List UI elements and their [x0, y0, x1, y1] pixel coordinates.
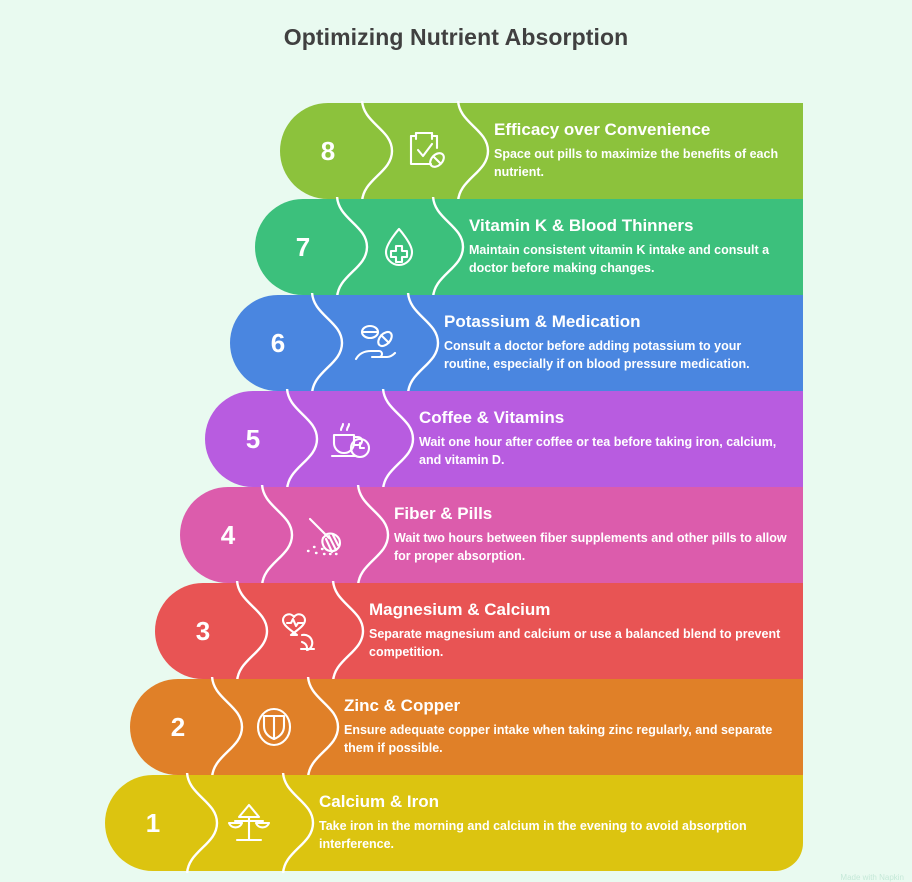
step-number: 2	[130, 679, 226, 775]
step-description: Space out pills to maximize the benefits…	[494, 146, 787, 182]
step-row: 1 Calcium & IronTake iron in the morning…	[105, 775, 803, 871]
step-number: 6	[230, 295, 326, 391]
step-title: Coffee & Vitamins	[419, 408, 787, 428]
step-title: Zinc & Copper	[344, 696, 787, 716]
step-row: 7 Vitamin K & Blood ThinnersMaintain con…	[255, 199, 803, 295]
step-description: Wait two hours between fiber supplements…	[394, 530, 787, 566]
step-title: Potassium & Medication	[444, 312, 787, 332]
step-description: Wait one hour after coffee or tea before…	[419, 434, 787, 470]
clipboard-check-pill-icon	[376, 103, 472, 199]
step-title: Magnesium & Calcium	[369, 600, 787, 620]
staircase-diagram: 8 Efficacy over ConvenienceSpace out pil…	[0, 0, 912, 882]
broom-sweep-icon	[276, 487, 372, 583]
step-number: 8	[280, 103, 376, 199]
step-description: Ensure adequate copper intake when takin…	[344, 722, 787, 758]
step-title: Efficacy over Convenience	[494, 120, 787, 140]
step-text: Calcium & IronTake iron in the morning a…	[297, 775, 803, 871]
step-row: 4 Fiber & PillsWait two hours between fi…	[180, 487, 803, 583]
step-description: Maintain consistent vitamin K intake and…	[469, 242, 787, 278]
hand-holding-pills-icon	[326, 295, 422, 391]
step-number: 5	[205, 391, 301, 487]
step-title: Calcium & Iron	[319, 792, 787, 812]
heart-pulse-muscle-icon	[251, 583, 347, 679]
watermark: Made with Napkin	[840, 873, 904, 882]
step-text: Fiber & PillsWait two hours between fibe…	[372, 487, 803, 583]
shield-badge-icon	[226, 679, 322, 775]
step-number: 4	[180, 487, 276, 583]
step-title: Fiber & Pills	[394, 504, 787, 524]
step-text: Efficacy over ConvenienceSpace out pills…	[472, 103, 803, 199]
step-text: Magnesium & CalciumSeparate magnesium an…	[347, 583, 803, 679]
step-number: 3	[155, 583, 251, 679]
step-title: Vitamin K & Blood Thinners	[469, 216, 787, 236]
step-text: Potassium & MedicationConsult a doctor b…	[422, 295, 803, 391]
step-number: 1	[105, 775, 201, 871]
step-row: 8 Efficacy over ConvenienceSpace out pil…	[280, 103, 803, 199]
step-text: Vitamin K & Blood ThinnersMaintain consi…	[447, 199, 803, 295]
step-row: 5 Coffee & VitaminsWait one hour after c…	[205, 391, 803, 487]
balance-scale-icon	[201, 775, 297, 871]
step-number: 7	[255, 199, 351, 295]
step-text: Coffee & VitaminsWait one hour after cof…	[397, 391, 803, 487]
step-description: Consult a doctor before adding potassium…	[444, 338, 787, 374]
step-description: Take iron in the morning and calcium in …	[319, 818, 787, 854]
step-description: Separate magnesium and calcium or use a …	[369, 626, 787, 662]
step-row: 2 Zinc & CopperEnsure adequate copper in…	[130, 679, 803, 775]
step-row: 3 Magnesium & CalciumSeparate magnesium …	[155, 583, 803, 679]
blood-drop-cross-icon	[351, 199, 447, 295]
step-text: Zinc & CopperEnsure adequate copper inta…	[322, 679, 803, 775]
step-row: 6 Potassium & MedicationConsult a doctor…	[230, 295, 803, 391]
coffee-cup-clock-icon	[301, 391, 397, 487]
